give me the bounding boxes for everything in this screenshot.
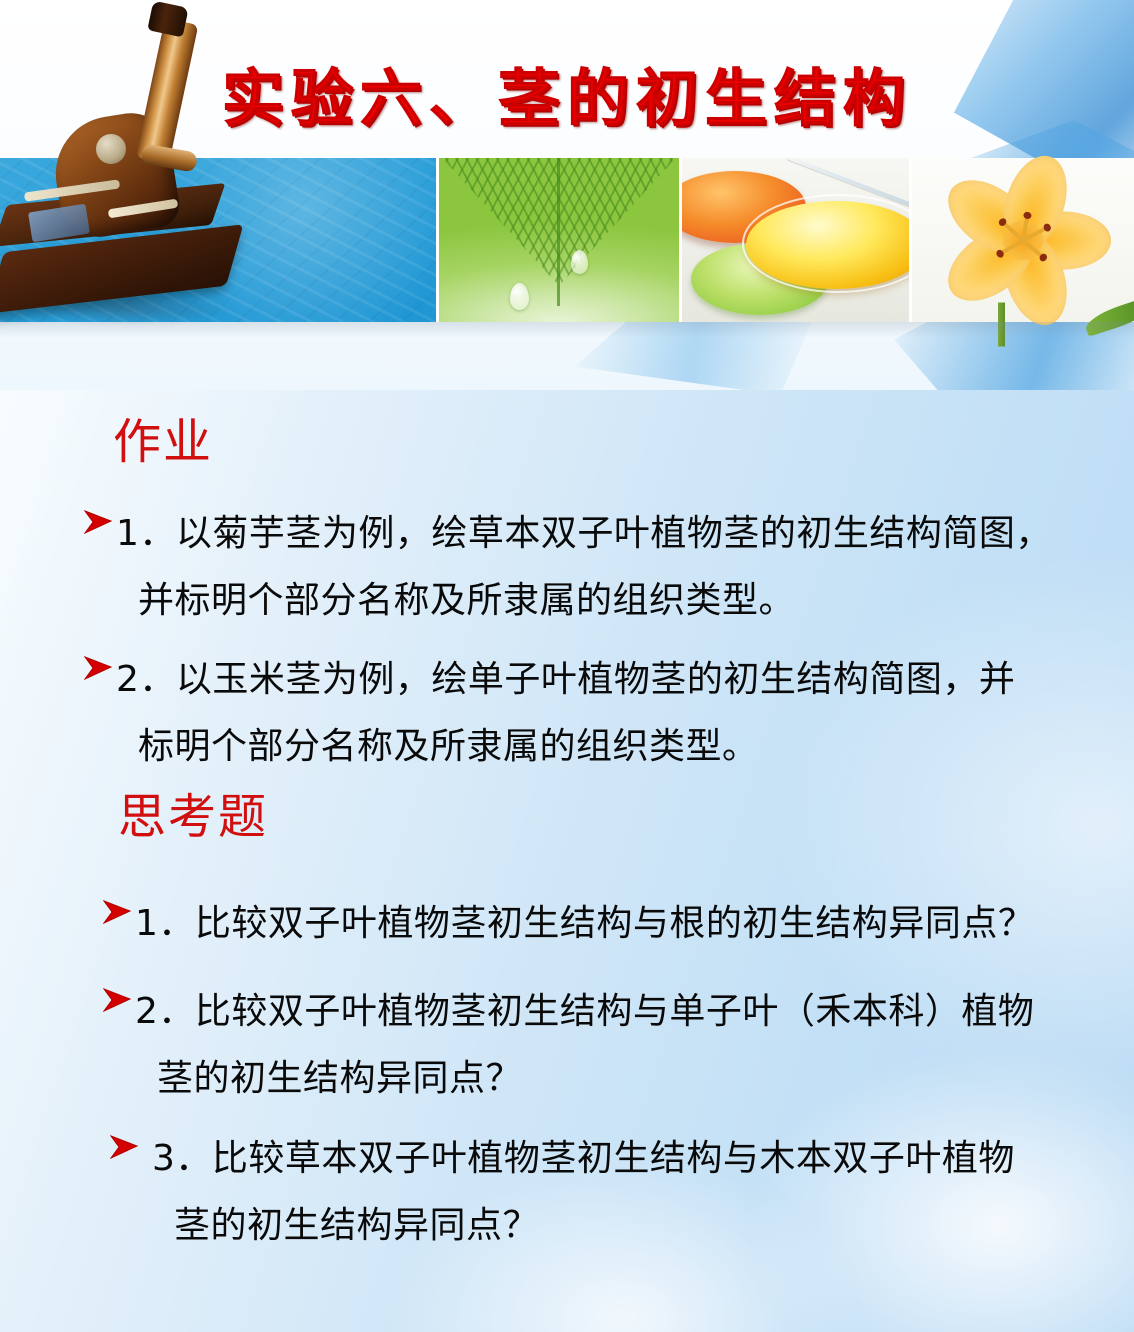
slide-body: 作业 1．以菊芋茎为例，绘草本双子叶植物茎的初生结构简图，并标明个部分名称及所隶…	[0, 390, 1134, 1332]
section-heading-homework: 作业	[113, 418, 213, 466]
list-item-line2: 并标明个部分名称及所隶属的组织类型。	[138, 567, 1052, 634]
list-item-line2: 茎的初生结构异同点？	[174, 1192, 1015, 1259]
photo-strip	[0, 158, 1134, 322]
arrow-bullet-icon	[84, 509, 114, 549]
list-item: 2．比较双子叶植物茎初生结构与单子叶（禾本科）植物茎的初生结构异同点？	[103, 978, 1103, 1112]
panel-divider	[909, 158, 912, 322]
panel-divider	[436, 158, 439, 322]
list-item-text: 2．比较双子叶植物茎初生结构与单子叶（禾本科）植物茎的初生结构异同点？	[135, 978, 1034, 1112]
list-item-line2: 标明个部分名称及所隶属的组织类型。	[138, 713, 1015, 780]
arrow-bullet-icon	[103, 987, 133, 1027]
section-heading-questions: 思考题	[118, 793, 268, 841]
microscope-eyepiece	[147, 1, 188, 38]
list-item-line1: 2．以玉米茎为例，绘单子叶植物茎的初生结构简图，并	[116, 659, 1015, 700]
arrow-bullet-icon	[103, 899, 133, 939]
list-item: 1．以菊芋茎为例，绘草本双子叶植物茎的初生结构简图，并标明个部分名称及所隶属的组…	[84, 500, 1094, 634]
list-item-line2: 茎的初生结构异同点？	[157, 1045, 1034, 1112]
leaf-photo	[436, 158, 682, 322]
water-droplet-icon	[510, 283, 529, 310]
list-item-line1: 1．以菊芋茎为例，绘草本双子叶植物茎的初生结构简图，	[116, 513, 1052, 554]
lily-flower-photo	[912, 158, 1134, 322]
lily-flower	[918, 148, 1128, 333]
petri-dish-photo	[682, 158, 912, 322]
slide-header: 实验六、茎的初生结构	[0, 0, 1134, 390]
arrow-bullet-icon	[84, 655, 114, 695]
page-title: 实验六、茎的初生结构	[0, 48, 1134, 138]
list-item: 3．比较草本双子叶植物茎初生结构与木本双子叶植物茎的初生结构异同点？	[110, 1125, 1110, 1259]
list-item-line1: 3．比较草本双子叶植物茎初生结构与木本双子叶植物	[152, 1138, 1015, 1179]
list-item-text: 3．比较草本双子叶植物茎初生结构与木本双子叶植物茎的初生结构异同点？	[152, 1125, 1015, 1259]
list-item-text: 2．以玉米茎为例，绘单子叶植物茎的初生结构简图，并标明个部分名称及所隶属的组织类…	[116, 646, 1015, 780]
list-item: 1．比较双子叶植物茎初生结构与根的初生结构异同点？	[103, 890, 1103, 957]
slide-canvas: 实验六、茎的初生结构 作业 1．以菊芋茎为例，绘草本双子叶植物茎的初生结构简图，…	[0, 0, 1134, 1332]
list-item-line1: 2．比较双子叶植物茎初生结构与单子叶（禾本科）植物	[135, 991, 1034, 1032]
microscope-focus-knob	[96, 134, 126, 164]
leaf-midrib	[557, 158, 560, 306]
panel-divider	[679, 158, 682, 322]
list-item-text: 1．以菊芋茎为例，绘草本双子叶植物茎的初生结构简图，并标明个部分名称及所隶属的组…	[116, 500, 1052, 634]
list-item-text: 1．比较双子叶植物茎初生结构与根的初生结构异同点？	[135, 890, 1034, 957]
list-item: 2．以玉米茎为例，绘单子叶植物茎的初生结构简图，并标明个部分名称及所隶属的组织类…	[84, 646, 1094, 780]
arrow-bullet-icon	[110, 1134, 140, 1174]
